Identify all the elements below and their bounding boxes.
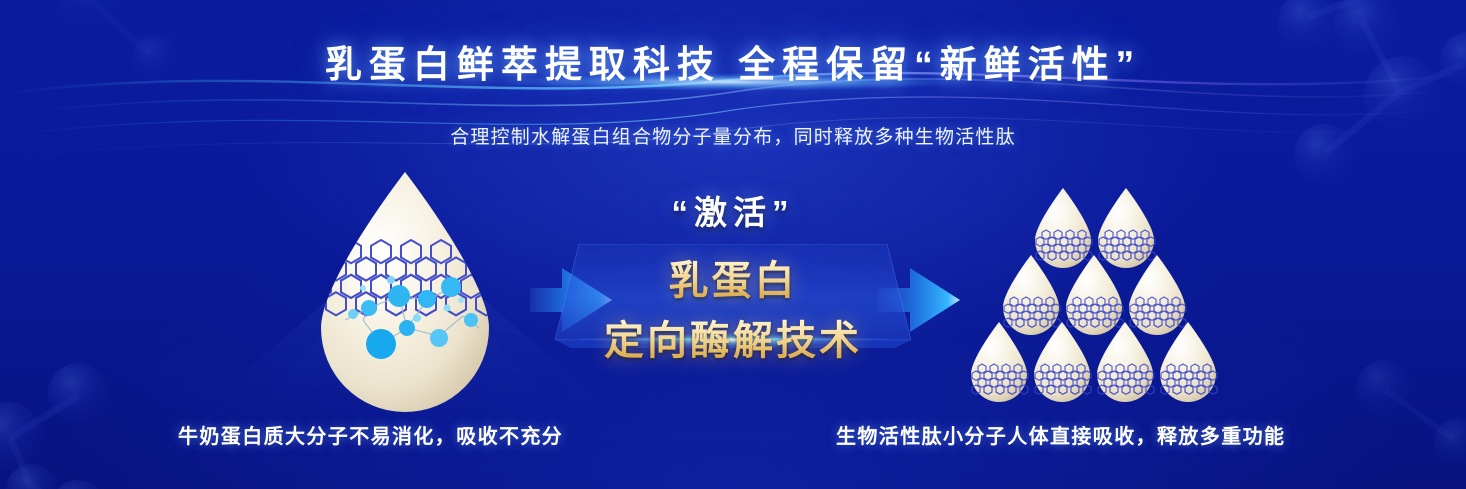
molecule-decoration-icon [1336,330,1466,489]
peptide-droplet [1129,255,1186,335]
large-milk-protein-droplet [303,168,508,408]
caption-right: 生物活性肽小分子人体直接吸收，释放多重功能 [836,420,1285,449]
peptide-droplet [1003,255,1060,335]
peptide-droplet [1098,188,1155,268]
peptide-droplet [1097,322,1154,402]
caption-left: 牛奶蛋白质大分子不易消化，吸收不充分 [178,420,563,449]
tech-line-2: 定向酶解技术 [563,308,903,366]
center-technology-block: “激活” [563,186,903,361]
tech-line-1: 乳蛋白 [563,248,903,306]
peptide-droplet [971,322,1028,402]
peptide-droplet [1034,322,1091,402]
activate-label: “激活” [563,186,903,234]
page-title: 乳蛋白鲜萃提取科技 全程保留“新鲜活性” [0,34,1466,88]
peptide-droplet [1160,322,1217,402]
page-subtitle: 合理控制水解蛋白组合物分子量分布，同时释放多种生物活性肽 [0,122,1466,149]
technology-name: 乳蛋白 定向酶解技术 [563,248,903,366]
molecule-decoration-icon [0,318,200,489]
poster-canvas: “激活” [0,0,1466,489]
peptide-droplet [1035,188,1092,268]
peptide-droplet [1066,255,1123,335]
